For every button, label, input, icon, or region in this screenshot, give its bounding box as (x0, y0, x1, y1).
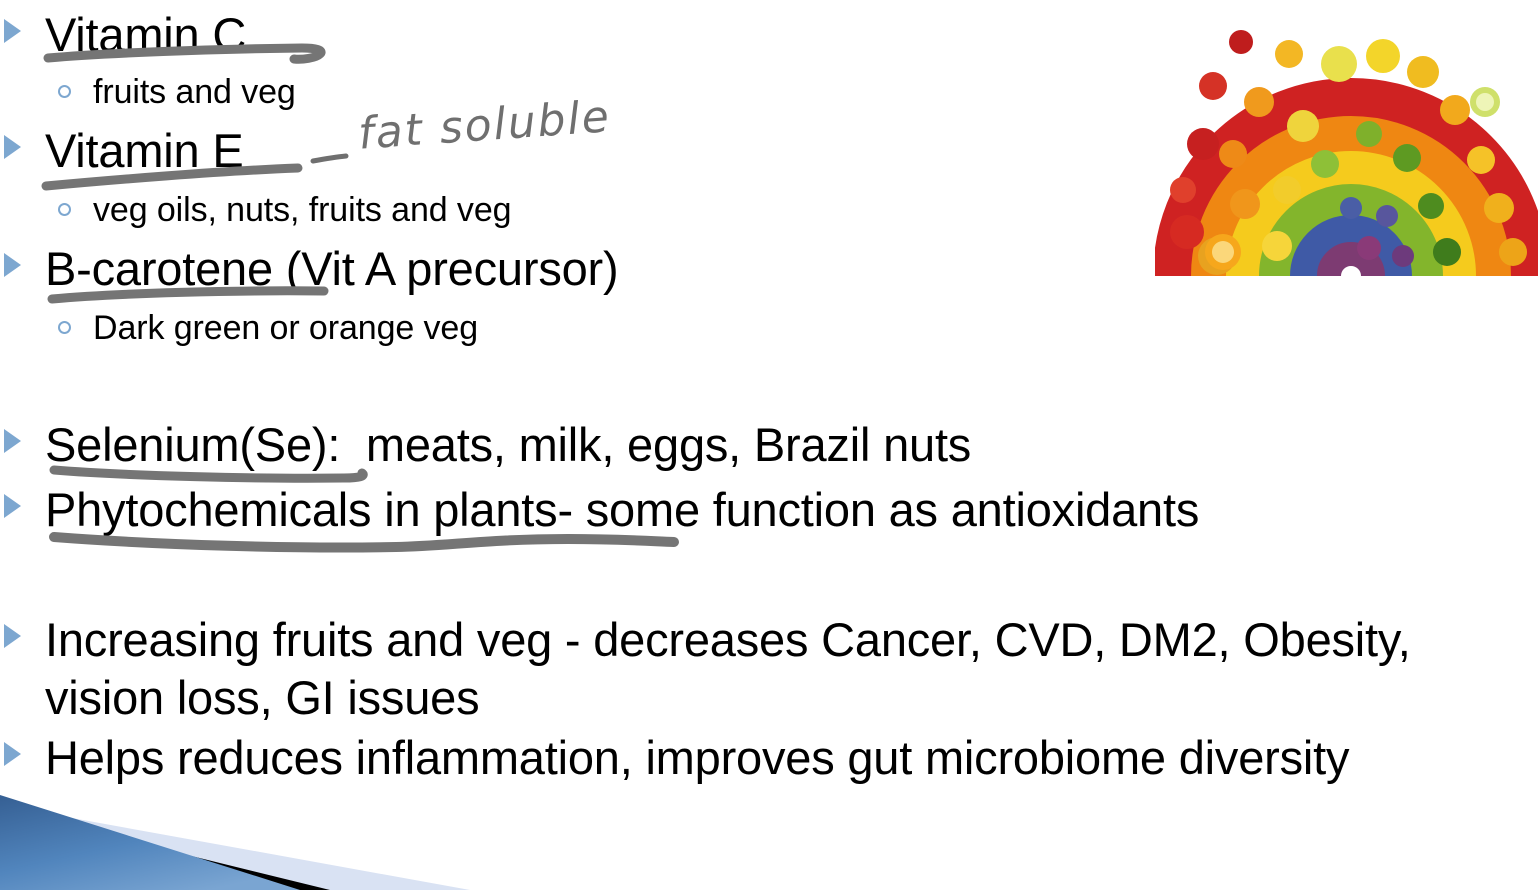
subbullet-veg-oils-nuts: veg oils, nuts, fruits and veg (58, 188, 511, 232)
slide: Vitamin C fruits and veg Vitamin E veg o… (0, 0, 1538, 890)
corner-decoration (0, 775, 470, 890)
arrow-bullet-icon (4, 19, 21, 43)
bullet-increasing-fruits-veg: Increasing fruits and veg - decreases Ca… (4, 611, 1538, 727)
bullet-text: Increasing fruits and veg - decreases Ca… (45, 611, 1523, 727)
subbullet-fruits-and-veg: fruits and veg (58, 70, 296, 114)
circle-bullet-icon (58, 85, 71, 98)
arrow-bullet-icon (4, 742, 21, 766)
circle-bullet-icon (58, 203, 71, 216)
arrow-bullet-icon (4, 253, 21, 277)
bullet-text: Vitamin E (45, 122, 243, 180)
bullet-vitamin-c: Vitamin C (4, 6, 246, 64)
subbullet-text: fruits and veg (93, 70, 296, 114)
arrow-bullet-icon (4, 494, 21, 518)
bullet-text: Vitamin C (45, 6, 246, 64)
arrow-bullet-icon (4, 135, 21, 159)
arrow-bullet-icon (4, 624, 21, 648)
fruits-and-vegetables-rainbow-image (1155, 0, 1538, 276)
bullet-text: Selenium(Se): meats, milk, eggs, Brazil … (45, 416, 971, 474)
bullet-text: Phytochemicals in plants- some function … (45, 481, 1199, 539)
bullet-b-carotene: B-carotene (Vit A precursor) (4, 240, 618, 298)
arrow-bullet-icon (4, 429, 21, 453)
subbullet-text: veg oils, nuts, fruits and veg (93, 188, 511, 232)
bullet-vitamin-e: Vitamin E (4, 122, 243, 180)
bullet-text: B-carotene (Vit A precursor) (45, 240, 618, 298)
bullet-selenium: Selenium(Se): meats, milk, eggs, Brazil … (4, 416, 971, 474)
produce-rainbow-illustration (1155, 0, 1538, 276)
subbullet-text: Dark green or orange veg (93, 306, 478, 350)
circle-bullet-icon (58, 321, 71, 334)
bullet-phytochemicals: Phytochemicals in plants- some function … (4, 481, 1199, 539)
subbullet-dark-green-orange-veg: Dark green or orange veg (58, 306, 478, 350)
